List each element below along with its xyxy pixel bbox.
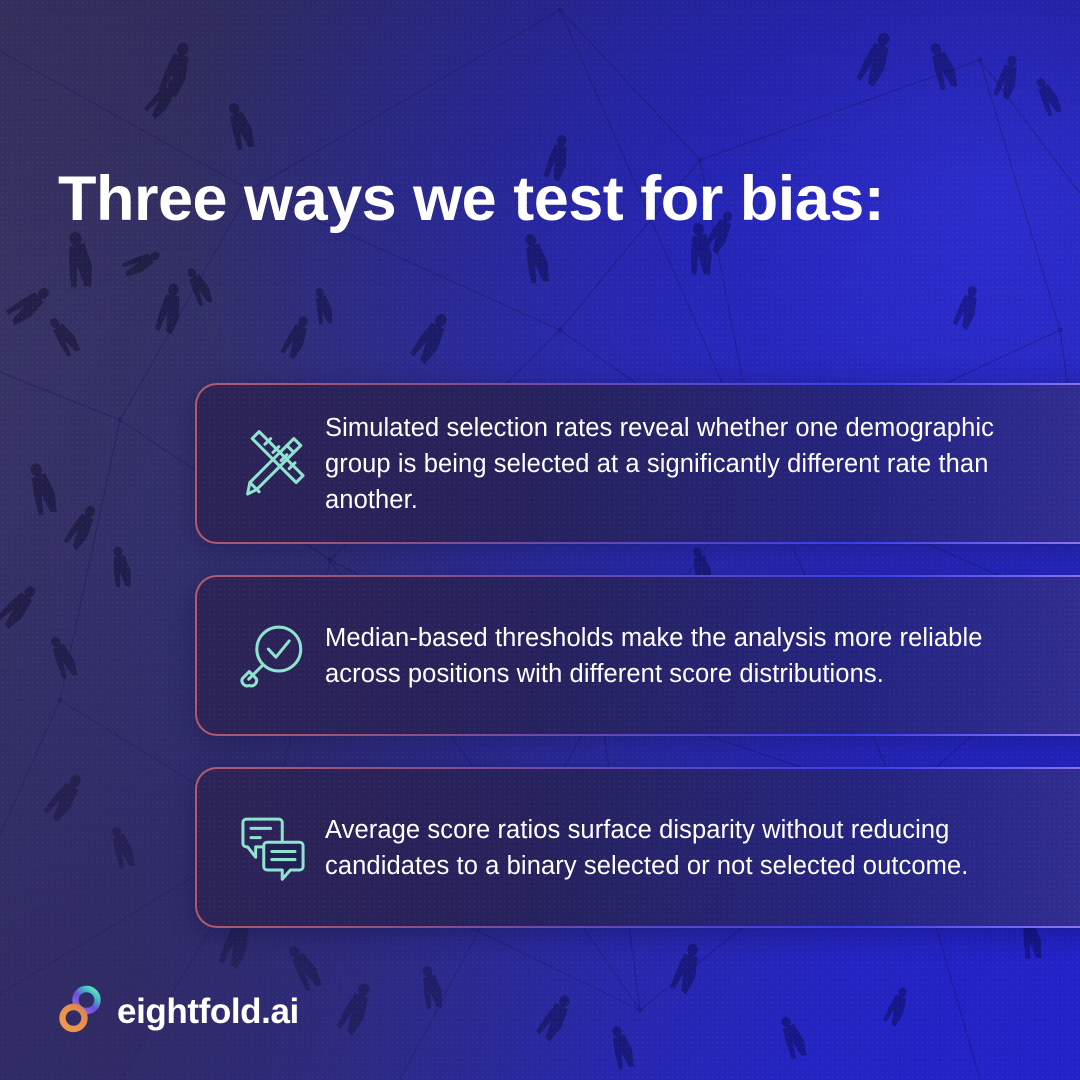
eightfold-logo[interactable]: eightfold.ai	[56, 983, 299, 1040]
card-body: Median-based thresholds make the analysi…	[197, 577, 1080, 734]
card-description: Average score ratios surface disparity w…	[325, 812, 1055, 884]
eightfold-logo-mark	[56, 983, 104, 1040]
card-description: Median-based thresholds make the analysi…	[325, 620, 1055, 692]
card-body: Average score ratios surface disparity w…	[197, 769, 1080, 926]
bias-test-card: Average score ratios surface disparity w…	[195, 767, 1080, 928]
magnifier-check-icon	[221, 619, 325, 693]
bias-test-card: Simulated selection rates reveal whether…	[195, 383, 1080, 544]
page-title: Three ways we test for bias:	[58, 166, 998, 232]
bias-test-card: Median-based thresholds make the analysi…	[195, 575, 1080, 736]
bias-test-card-list: Simulated selection rates reveal whether…	[195, 383, 1080, 959]
infographic-canvas: Three ways we test for bias:	[0, 0, 1080, 1080]
card-body: Simulated selection rates reveal whether…	[197, 385, 1080, 542]
card-description: Simulated selection rates reveal whether…	[325, 410, 1055, 518]
chat-bubbles-icon	[221, 811, 325, 885]
eightfold-logo-text: eightfold.ai	[117, 992, 299, 1032]
pencil-ruler-icon	[221, 427, 325, 501]
